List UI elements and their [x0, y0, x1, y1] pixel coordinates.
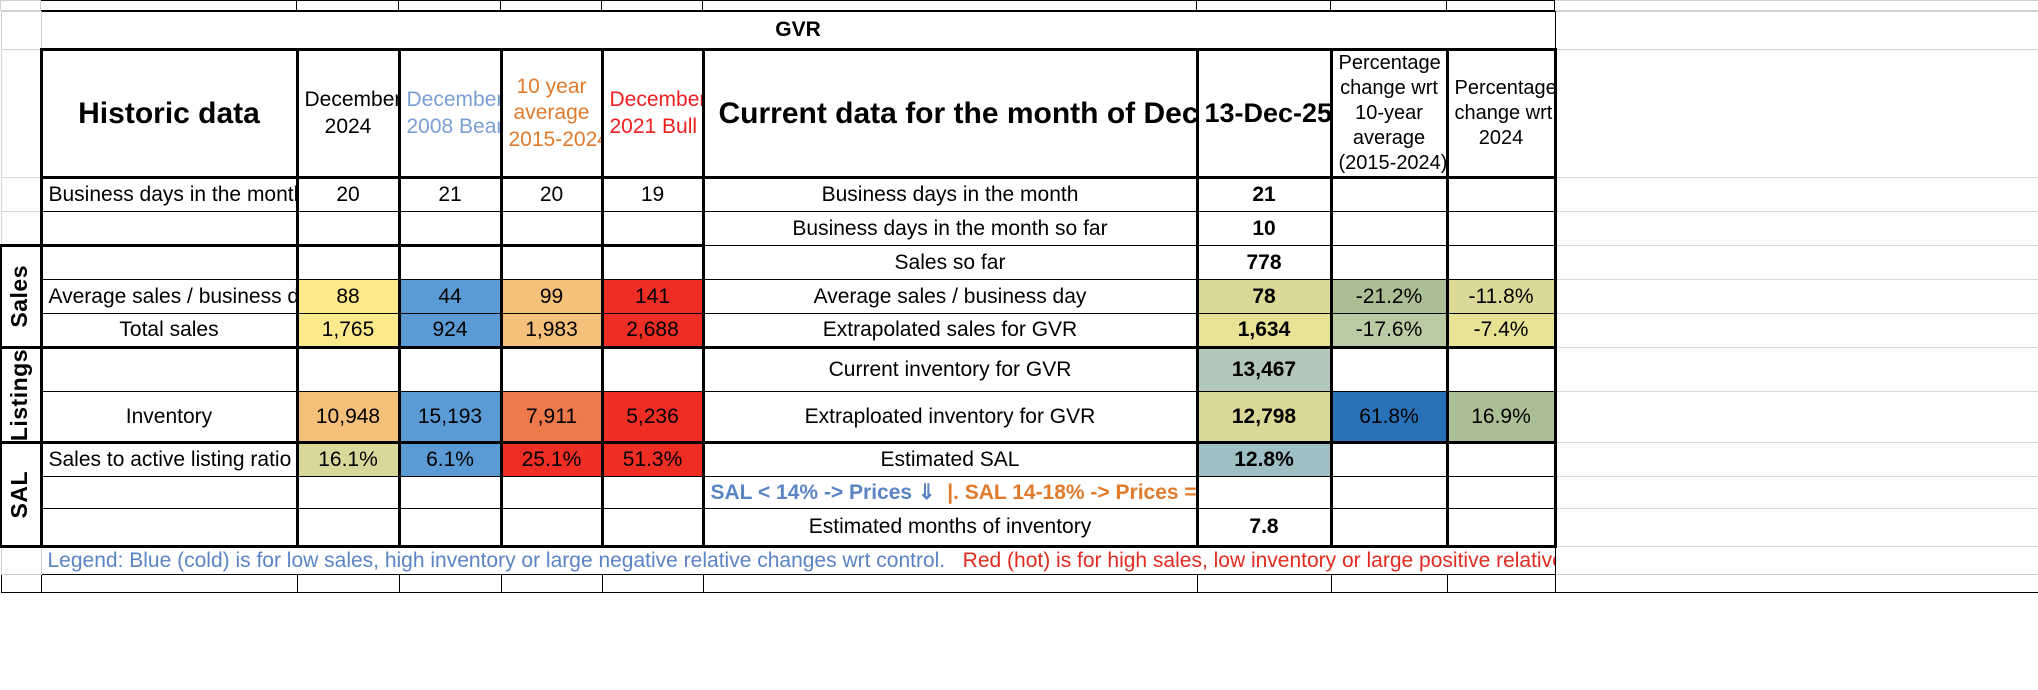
title-right-pad: [1555, 12, 2038, 50]
cell-pct-10yr: [1331, 212, 1447, 246]
row-label-left: [41, 477, 297, 509]
pct10-line2: change wrt: [1340, 77, 1438, 99]
section-spine-sal: SAL: [1, 443, 41, 547]
strip-cell: [1331, 1, 1447, 11]
header-current-data: Current data for the month of December a…: [703, 50, 1197, 178]
row-right-pad: [1555, 280, 2038, 314]
cell-avg: [501, 212, 602, 246]
row-right-pad: [1555, 509, 2038, 547]
pct24-line1: Percentage: [1455, 77, 1556, 99]
strip-cell: [297, 1, 399, 11]
header-10-year-average: 10 year average 2015-2024: [501, 50, 602, 178]
header-as-of-date: 13-Dec-25: [1197, 50, 1331, 178]
cell-current: 1,634: [1197, 314, 1331, 348]
row-spine-blank: [1, 178, 41, 212]
cell-current: 78: [1197, 280, 1331, 314]
table-row: Total sales 1,765 924 1,983 2,688 Extrap…: [1, 314, 2038, 348]
header-avg-line3: 2015-2024: [509, 128, 603, 151]
cell-bear: 44: [399, 280, 501, 314]
cell-current: 12,798: [1197, 392, 1331, 443]
cell-current: 21: [1197, 178, 1331, 212]
table-row: Business days in the month 20 21 20 19 B…: [1, 178, 2038, 212]
pct24-line3: 2024: [1479, 127, 1524, 149]
cell-pct-2024: [1447, 178, 1555, 212]
cell-bull: 141: [602, 280, 703, 314]
header-avg-line2: average: [514, 101, 590, 124]
row-label-right: Average sales / business day: [703, 280, 1197, 314]
header-pct-change-2024: Percentage change wrt 2024: [1447, 50, 1555, 178]
table-row: Sales Sales so far 778: [1, 246, 2038, 280]
row-right-pad: [1555, 212, 2038, 246]
cell-current: [1197, 477, 1331, 509]
cell-dec2024: [297, 348, 399, 392]
strip-cell: [1447, 1, 1555, 11]
legend-blue-text: Legend: Blue (cold) is for low sales, hi…: [48, 549, 946, 572]
section-spine-sal-label: SAL: [8, 471, 31, 519]
cell-bull: [602, 509, 703, 547]
header-dec2024-line2: 2024: [325, 115, 372, 138]
row-label-left: [41, 246, 297, 280]
cell-bear: [399, 477, 501, 509]
section-spine-sales-label: Sales: [8, 265, 31, 328]
cell-pct-2024: [1447, 348, 1555, 392]
header-december-2021-bull: December 2021 Bull: [602, 50, 703, 178]
gvr-data-table: GVR Historic data December 2024 December…: [0, 11, 2038, 593]
cell-avg: 1,983: [501, 314, 602, 348]
row-right-pad: [1555, 477, 2038, 509]
cell-pct-10yr: -21.2%: [1331, 280, 1447, 314]
row-label-left: Sales to active listing ratio (SAL): [41, 443, 297, 477]
title-bar-row: GVR: [1, 12, 2038, 50]
cell-bear: 924: [399, 314, 501, 348]
row-spine-blank: [1, 212, 41, 246]
cell-pct-10yr: -17.6%: [1331, 314, 1447, 348]
cell-avg: 20: [501, 178, 602, 212]
table-header-row: Historic data December 2024 December 200…: [1, 50, 2038, 178]
cell-pct-2024: 16.9%: [1447, 392, 1555, 443]
legend-row: Legend: Blue (cold) is for low sales, hi…: [1, 547, 2038, 575]
row-label-right: Estimated SAL: [703, 443, 1197, 477]
cell-avg: 25.1%: [501, 443, 602, 477]
cell-avg: [501, 509, 602, 547]
cell-dec2024: 16.1%: [297, 443, 399, 477]
strip-cell: [703, 1, 1197, 11]
cell-bear: [399, 246, 501, 280]
row-label-right: Estimated months of inventory: [703, 509, 1197, 547]
strip-cell: [399, 575, 501, 593]
cell-dec2024: 10,948: [297, 392, 399, 443]
table-row: Estimated months of inventory 7.8: [1, 509, 2038, 547]
pct10-line1: Percentage: [1339, 52, 1441, 74]
cell-bull: 2,688: [602, 314, 703, 348]
row-label-left: Total sales: [41, 314, 297, 348]
cell-pct-2024: [1447, 246, 1555, 280]
section-spine-listings: Listings: [1, 348, 41, 443]
cell-dec2024: [297, 509, 399, 547]
spreadsheet-sheet: GVR Historic data December 2024 December…: [0, 0, 2038, 690]
cell-bear: 15,193: [399, 392, 501, 443]
header-bull-line1: December: [610, 88, 704, 111]
cell-dec2024: [297, 246, 399, 280]
cell-pct-10yr: [1331, 246, 1447, 280]
cell-bull: 51.3%: [602, 443, 703, 477]
strip-cell: [501, 1, 602, 11]
strip-cell: [1447, 575, 1555, 593]
row-label-left: [41, 509, 297, 547]
header-bear-line1: December: [407, 88, 502, 111]
cell-avg: [501, 246, 602, 280]
row-label-right: Business days in the month: [703, 178, 1197, 212]
header-spine-cell: [1, 50, 41, 178]
cell-pct-10yr: [1331, 443, 1447, 477]
cell-dec2024: [297, 212, 399, 246]
pct10-line4: average: [1353, 127, 1425, 149]
sal-threshold-note: SAL < 14% -> Prices ⇓ |. SAL 14-18% -> P…: [703, 477, 1197, 509]
cell-avg: 99: [501, 280, 602, 314]
strip-cell: [1197, 575, 1331, 593]
cell-pct-2024: [1447, 212, 1555, 246]
cell-pct-10yr: [1331, 178, 1447, 212]
cell-pct-2024: [1447, 443, 1555, 477]
row-right-pad: [1555, 178, 2038, 212]
header-pct-change-10yr: Percentage change wrt 10-year average (2…: [1331, 50, 1447, 178]
sal-note-sep1: |.: [947, 481, 959, 504]
page-title: GVR: [41, 12, 1555, 50]
strip-cell: [1197, 1, 1331, 11]
cell-dec2024: 20: [297, 178, 399, 212]
row-label-right: Sales so far: [703, 246, 1197, 280]
cell-current: 7.8: [1197, 509, 1331, 547]
cell-current: 12.8%: [1197, 443, 1331, 477]
cell-bull: 19: [602, 178, 703, 212]
pct24-line2: change wrt: [1455, 102, 1553, 124]
strip-cell: [1555, 1, 2038, 11]
row-label-left: Inventory: [41, 392, 297, 443]
strip-cell: [41, 575, 297, 593]
cell-current: 778: [1197, 246, 1331, 280]
legend-text: Legend: Blue (cold) is for low sales, hi…: [41, 547, 1555, 575]
row-label-left: [41, 348, 297, 392]
row-right-pad: [1555, 443, 2038, 477]
cell-pct-10yr: [1331, 477, 1447, 509]
sal-note-part-low: SAL < 14% -> Prices ⇓: [711, 481, 936, 504]
header-historic-data: Historic data: [41, 50, 297, 178]
strip-cell: [602, 1, 703, 11]
strip-cell: [703, 575, 1197, 593]
cell-avg: [501, 348, 602, 392]
cell-dec2024: 1,765: [297, 314, 399, 348]
cell-bull: [602, 477, 703, 509]
row-right-pad: [1555, 314, 2038, 348]
strip-cell: [501, 575, 602, 593]
strip-cell: [297, 575, 399, 593]
cell-pct-10yr: [1331, 348, 1447, 392]
strip-cell: [602, 575, 703, 593]
pct10-line3: 10-year: [1355, 102, 1423, 124]
table-row: SAL < 14% -> Prices ⇓ |. SAL 14-18% -> P…: [1, 477, 2038, 509]
row-right-pad: [1555, 246, 2038, 280]
cell-bull: 5,236: [602, 392, 703, 443]
cell-bear: [399, 509, 501, 547]
section-spine-sales: Sales: [1, 246, 41, 348]
header-bull-line2: 2021 Bull: [610, 115, 698, 138]
cell-pct-10yr: [1331, 509, 1447, 547]
header-right-pad: [1555, 50, 2038, 178]
row-label-left: Business days in the month: [41, 178, 297, 212]
cell-dec2024: 88: [297, 280, 399, 314]
header-december-2024: December 2024: [297, 50, 399, 178]
cell-pct-2024: [1447, 477, 1555, 509]
header-december-2008-bear: December 2008 Bear: [399, 50, 501, 178]
cell-bear: [399, 348, 501, 392]
strip-cell: [1555, 575, 2038, 593]
strip-cell: [1331, 575, 1447, 593]
legend-left-pad: [1, 547, 41, 575]
cell-bear: [399, 212, 501, 246]
row-label-right: Extrapolated sales for GVR: [703, 314, 1197, 348]
cell-bull: [602, 212, 703, 246]
strip-cell: [1, 1, 41, 11]
cell-avg: 7,911: [501, 392, 602, 443]
legend-red-text: Red (hot) is for high sales, low invento…: [963, 549, 1555, 572]
cell-bear: 6.1%: [399, 443, 501, 477]
table-row: Inventory 10,948 15,193 7,911 5,236 Extr…: [1, 392, 2038, 443]
cell-pct-2024: [1447, 509, 1555, 547]
table-row: Average sales / business day 88 44 99 14…: [1, 280, 2038, 314]
cell-pct-2024: -11.8%: [1447, 280, 1555, 314]
cell-current: 13,467: [1197, 348, 1331, 392]
cell-avg: [501, 477, 602, 509]
sal-note-part-mid: SAL 14-18% -> Prices =: [965, 481, 1197, 504]
table-row: SAL Sales to active listing ratio (SAL) …: [1, 443, 2038, 477]
strip-cell: [41, 1, 297, 11]
strip-cell: [1, 575, 41, 593]
row-label-right: Current inventory for GVR: [703, 348, 1197, 392]
cell-bear: 21: [399, 178, 501, 212]
section-spine-listings-label: Listings: [8, 349, 31, 441]
row-label-right: Business days in the month so far: [703, 212, 1197, 246]
table-row: Listings Current inventory for GVR 13,46…: [1, 348, 2038, 392]
cell-dec2024: [297, 477, 399, 509]
row-label-left: Average sales / business day: [41, 280, 297, 314]
cell-bull: [602, 246, 703, 280]
header-dec2024-line1: December: [305, 88, 400, 111]
row-label-right: Extraploated inventory for GVR: [703, 392, 1197, 443]
row-right-pad: [1555, 348, 2038, 392]
row-right-pad: [1555, 392, 2038, 443]
cell-pct-2024: -7.4%: [1447, 314, 1555, 348]
pct10-line5: (2015-2024): [1339, 152, 1448, 174]
cell-pct-10yr: 61.8%: [1331, 392, 1447, 443]
cell-bull: [602, 348, 703, 392]
strip-cell: [399, 1, 501, 11]
header-avg-line1: 10 year: [516, 75, 586, 98]
cell-current: 10: [1197, 212, 1331, 246]
row-label-left: [41, 212, 297, 246]
table-row: Business days in the month so far 10: [1, 212, 2038, 246]
bottom-empty-strip: [1, 575, 2038, 593]
top-chrome-strip: [0, 0, 2038, 11]
title-left-pad: [1, 12, 41, 50]
header-bear-line2: 2008 Bear: [407, 115, 502, 138]
legend-right-pad: [1555, 547, 2038, 575]
